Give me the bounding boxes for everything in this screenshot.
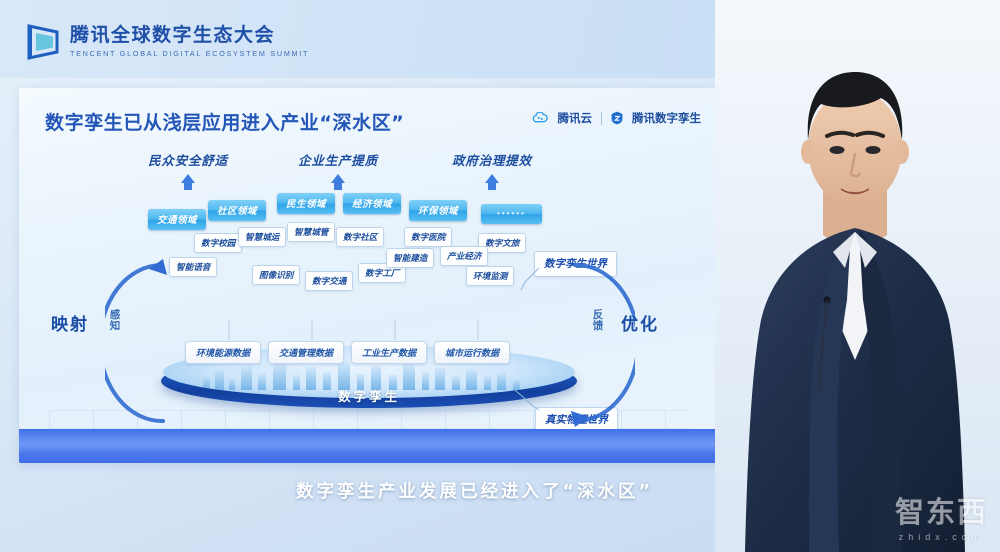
tech-tag-5[interactable]: 产业经济 bbox=[440, 246, 488, 266]
optimize-arrow-arc bbox=[565, 253, 635, 428]
domain-tag-3[interactable]: 经济领域 bbox=[343, 193, 401, 214]
data-box-1[interactable]: 交通管理数据 bbox=[268, 341, 344, 364]
slide-title: 数字孪生已从浅层应用进入产业“深水区” bbox=[45, 108, 404, 135]
tech-tag-4[interactable]: 智能建造 bbox=[386, 248, 434, 268]
left-label-small: 感知 bbox=[109, 310, 121, 332]
arrow-up-icon bbox=[485, 174, 499, 183]
right-label-small: 反馈 bbox=[592, 310, 604, 332]
domain-tag-1[interactable]: 社区领域 bbox=[208, 200, 266, 221]
top-caption-1: 企业生产提质 bbox=[283, 150, 393, 183]
tech-tag-0[interactable]: 智能语音 bbox=[169, 257, 217, 277]
shield-icon bbox=[611, 111, 623, 125]
app-tag-1[interactable]: 智慧城运 bbox=[238, 227, 286, 247]
presenter-video: 智东西 zhidx.com bbox=[715, 0, 1000, 552]
conference-logo: 腾讯全球数字生态大会 TENCENT GLOBAL DIGITAL ECOSYS… bbox=[26, 24, 309, 60]
tech-tag-6[interactable]: 环境监测 bbox=[466, 266, 514, 286]
top-caption-label-0: 民众安全舒适 bbox=[133, 150, 243, 169]
mapping-arrow-arc bbox=[105, 253, 175, 428]
watermark: 智东西 zhidx.com bbox=[895, 489, 988, 542]
screenshot-stage: 腾讯全球数字生态大会 TENCENT GLOBAL DIGITAL ECOSYS… bbox=[0, 0, 1000, 552]
slide-logo-group: 腾讯云 腾讯数字孪生 bbox=[532, 110, 702, 126]
presentation-slide: 数字孪生已从浅层应用进入产业“深水区” 腾讯云 腾讯数字孪生 民众安全舒适 企业… bbox=[19, 88, 719, 463]
app-tag-2[interactable]: 智慧城管 bbox=[287, 222, 335, 242]
tech-tag-1[interactable]: 图像识别 bbox=[252, 265, 300, 285]
top-caption-label-1: 企业生产提质 bbox=[283, 150, 393, 169]
watermark-cn: 智东西 bbox=[895, 489, 988, 531]
data-box-3[interactable]: 城市运行数据 bbox=[434, 341, 510, 364]
cloud-icon bbox=[532, 112, 549, 124]
presenter-figure bbox=[715, 0, 1000, 552]
slide-logo-label-0: 腾讯云 bbox=[558, 110, 593, 126]
tech-tag-2[interactable]: 数字交通 bbox=[305, 271, 353, 291]
slide-logo-label-1: 腾讯数字孪生 bbox=[632, 110, 701, 126]
top-caption-0: 民众安全舒适 bbox=[133, 150, 243, 183]
tencent-gate-icon bbox=[26, 24, 60, 60]
slide-logo-divider bbox=[601, 112, 602, 125]
callout-leader-line-2 bbox=[513, 388, 543, 412]
conference-title-en: TENCENT GLOBAL DIGITAL ECOSYSTEM SUMMIT bbox=[70, 49, 309, 58]
data-box-2[interactable]: 工业生产数据 bbox=[351, 341, 427, 364]
app-tag-0[interactable]: 数字校园 bbox=[194, 233, 242, 253]
top-caption-2: 政府治理提效 bbox=[437, 150, 547, 183]
conference-title-block: 腾讯全球数字生态大会 TENCENT GLOBAL DIGITAL ECOSYS… bbox=[70, 26, 309, 58]
arrow-up-icon bbox=[331, 174, 345, 183]
conference-title-cn: 腾讯全球数字生态大会 bbox=[70, 26, 309, 46]
lower-third-caption: 数字孪生产业发展已经进入了“深水区” bbox=[296, 478, 653, 503]
app-tag-3[interactable]: 数字社区 bbox=[336, 227, 384, 247]
slide-footer-bar bbox=[19, 429, 719, 463]
domain-tag-5[interactable]: •••••• bbox=[481, 204, 542, 224]
domain-tag-4[interactable]: 环保领域 bbox=[409, 200, 467, 221]
callout-leader-line bbox=[519, 266, 541, 292]
data-box-0[interactable]: 环境能源数据 bbox=[185, 341, 261, 364]
arrow-up-icon bbox=[181, 174, 195, 183]
app-tag-4[interactable]: 数字医院 bbox=[404, 227, 452, 247]
watermark-en: zhidx.com bbox=[895, 532, 988, 542]
top-caption-label-2: 政府治理提效 bbox=[437, 150, 547, 169]
domain-tag-2[interactable]: 民生领域 bbox=[277, 193, 335, 214]
right-label-big: 优化 bbox=[621, 310, 659, 335]
data-connector-lines bbox=[169, 320, 569, 344]
left-label-big: 映射 bbox=[51, 310, 89, 335]
domain-tag-0[interactable]: 交通领域 bbox=[148, 209, 206, 230]
